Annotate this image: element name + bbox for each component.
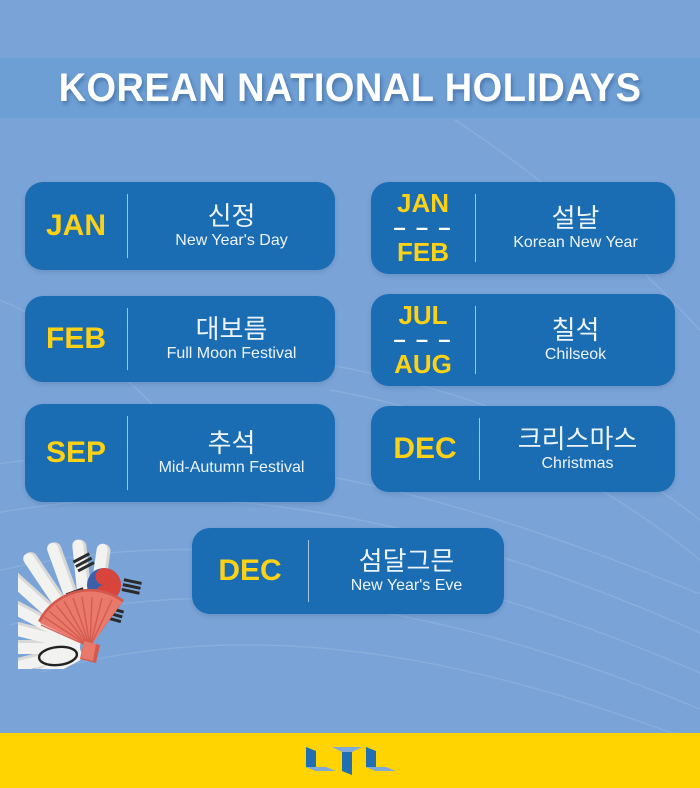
holiday-card-mid-autumn-festival[interactable]: SEP 추석 Mid-Autumn Festival — [25, 404, 335, 502]
card-body: 섬달그믄 New Year's Eve — [309, 528, 504, 614]
korean-folding-fan-icon — [18, 527, 178, 669]
card-body: 크리스마스 Christmas — [480, 406, 675, 492]
month-label: DEC — [218, 555, 281, 586]
holiday-name-korean: 설날 — [552, 204, 600, 233]
card-month-block: JAN – – – FEB — [371, 182, 475, 274]
holiday-name-english: Full Moon Festival — [167, 345, 297, 364]
holiday-card-new-years-eve[interactable]: DEC 섬달그믄 New Year's Eve — [192, 528, 504, 614]
card-month-block: SEP — [25, 404, 127, 502]
month-label-end: FEB — [397, 239, 449, 266]
card-body: 대보름 Full Moon Festival — [128, 296, 335, 382]
month-range-dashes: – – – — [394, 331, 453, 350]
card-body: 설날 Korean New Year — [476, 182, 675, 274]
infographic-poster: KOREAN NATIONAL HOLIDAYS JAN 신정 New Year… — [0, 0, 700, 788]
holiday-name-english: Mid-Autumn Festival — [159, 459, 305, 478]
holiday-name-korean: 신정 — [208, 202, 256, 231]
holiday-card-new-years-day[interactable]: JAN 신정 New Year's Day — [25, 182, 335, 270]
card-body: 추석 Mid-Autumn Festival — [128, 404, 335, 502]
page-title: KOREAN NATIONAL HOLIDAYS — [18, 58, 683, 118]
month-label: DEC — [393, 433, 456, 464]
holiday-name-english: New Year's Eve — [351, 577, 463, 596]
holiday-name-korean: 추석 — [208, 429, 256, 458]
background-arc-pattern — [0, 0, 700, 788]
month-label-end: AUG — [394, 351, 452, 378]
holiday-name-english: Christmas — [541, 455, 613, 474]
card-month-block: JAN — [25, 182, 127, 270]
card-month-block: DEC — [192, 528, 308, 614]
footer-band — [0, 733, 700, 788]
month-range-dashes: – – – — [394, 219, 453, 238]
holiday-name-korean: 섬달그믄 — [359, 547, 455, 576]
ltl-logo-icon[interactable] — [302, 741, 398, 781]
card-month-block: DEC — [371, 406, 479, 492]
holiday-name-korean: 칠석 — [552, 316, 600, 345]
holiday-name-english: New Year's Day — [175, 232, 287, 251]
month-label: FEB — [46, 323, 106, 354]
month-label-start: JAN — [397, 190, 449, 217]
holiday-name-english: Korean New Year — [513, 234, 638, 253]
holiday-name-english: Chilseok — [545, 346, 606, 365]
holiday-card-christmas[interactable]: DEC 크리스마스 Christmas — [371, 406, 675, 492]
holiday-card-korean-new-year[interactable]: JAN – – – FEB 설날 Korean New Year — [371, 182, 675, 274]
holiday-card-full-moon-festival[interactable]: FEB 대보름 Full Moon Festival — [25, 296, 335, 382]
card-body: 신정 New Year's Day — [128, 182, 335, 270]
month-label-start: JUL — [398, 302, 447, 329]
card-month-block: FEB — [25, 296, 127, 382]
month-label: JAN — [46, 210, 106, 241]
card-body: 칠석 Chilseok — [476, 294, 675, 386]
holiday-name-korean: 크리스마스 — [518, 425, 638, 454]
card-month-block: JUL – – – AUG — [371, 294, 475, 386]
holiday-card-chilseok[interactable]: JUL – – – AUG 칠석 Chilseok — [371, 294, 675, 386]
month-label: SEP — [46, 437, 106, 468]
holiday-name-korean: 대보름 — [196, 315, 268, 344]
